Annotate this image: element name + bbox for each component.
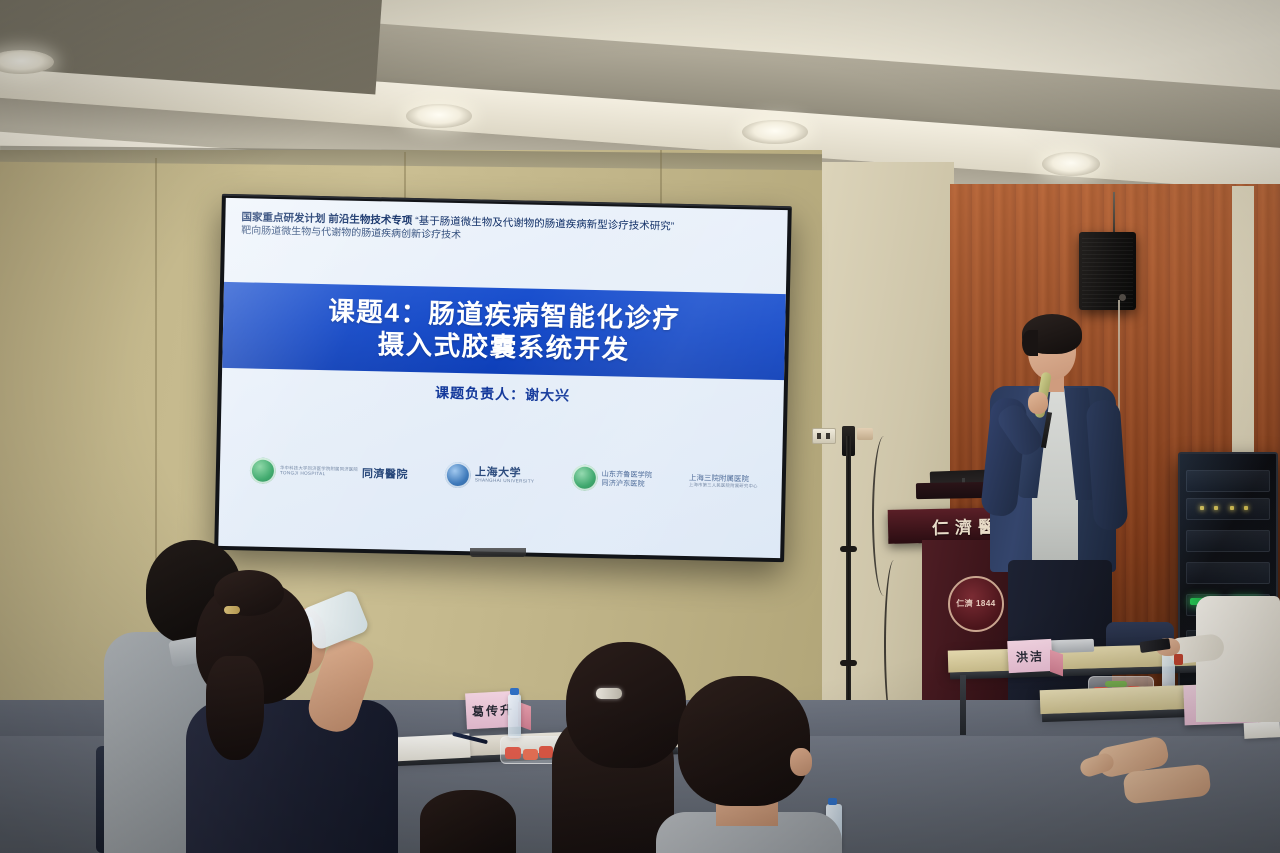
presenter-hand <box>1028 392 1048 414</box>
speaker-logo-dot <box>1119 294 1126 301</box>
presentation-display[interactable]: 国家重点研发计划 前沿生物技术专项 “基于肠道微生物及代谢物的肠道疾病新型诊疗技… <box>214 194 792 562</box>
hair-clip-icon <box>596 688 622 699</box>
fruit-garnish <box>1105 681 1127 687</box>
slide-logo-row: 华中科技大学同济医学院附属同济医院 TONGJI HOSPITAL 同濟醫院 上… <box>249 449 758 504</box>
logo-cn-text: 同濟醫院 <box>362 465 408 482</box>
logo-en-text: TONGJI HOSPITAL <box>280 471 358 478</box>
table-leg <box>960 675 966 735</box>
placard-text: 洪洁 <box>1016 647 1045 665</box>
logo-line2: 同济沪东医院 <box>601 478 652 488</box>
placard-hong-jie: 洪洁 <box>1007 639 1053 673</box>
tv-wall-mount <box>470 548 526 557</box>
outlet-slot <box>817 433 821 439</box>
tripod-clamp[interactable] <box>840 660 857 666</box>
audience-head <box>678 676 810 806</box>
fruit-piece <box>539 746 553 758</box>
slide-title-bar: 课题4：肠道疾病智能化诊疗 摄入式胶囊系统开发 <box>222 282 786 380</box>
presenter-hair-side <box>1022 330 1038 356</box>
shanghai-university-mark-icon <box>445 462 472 489</box>
emblem-text: 仁濟 1844 <box>956 600 996 608</box>
ceiling-downlight <box>406 104 472 128</box>
logo-line2: 上海市第三人民医院附属研究中心 <box>689 483 758 489</box>
slide-program-name: 国家重点研发计划 <box>241 211 325 225</box>
hair-tie-icon <box>224 606 240 614</box>
power-outlet-icon <box>812 428 836 444</box>
logo-en-text: SHANGHAI UNIVERSITY <box>475 479 535 485</box>
wall-panel-seam <box>155 158 157 578</box>
renji-hospital-emblem-icon: 仁濟 1844 <box>948 576 1004 632</box>
water-bottle-icon <box>508 694 521 738</box>
slide-title-line2: 摄入式胶囊系统开发 <box>377 328 630 366</box>
hospital-emblem-icon <box>571 465 598 492</box>
wall-speaker-icon <box>1079 232 1136 310</box>
paper-sheet <box>1244 721 1280 739</box>
placard-side-panel <box>1050 650 1063 677</box>
audience-ear <box>790 748 812 776</box>
slide-program-track: 前沿生物技术专项 <box>328 213 412 227</box>
audience-head <box>566 642 686 768</box>
fruit-piece <box>505 747 521 759</box>
bottle-cap <box>828 798 837 805</box>
ceiling-downlight <box>742 120 808 144</box>
speaker-hanger-wire <box>1113 192 1115 236</box>
audience-ponytail <box>206 656 264 760</box>
logo-shanghai-university: 上海大学 SHANGHAI UNIVERSITY <box>445 462 535 490</box>
tongji-hospital-mark-icon <box>250 458 277 485</box>
slide-presenter-line: 课题负责人：谢大兴 <box>221 378 783 410</box>
ceiling-downlight <box>1042 152 1100 176</box>
outlet-slot <box>826 433 830 439</box>
logo-tongji-hospital: 华中科技大学同济医学院附属同济医院 TONGJI HOSPITAL 同濟醫院 <box>250 458 409 487</box>
wristband-icon <box>1174 654 1183 665</box>
audience-head <box>420 790 516 853</box>
fruit-piece <box>523 749 538 760</box>
logo-shanghai-third-hospital: 上海三院附属医院 上海市第三人民医院附属研究中心 <box>689 473 758 489</box>
bottle-cap <box>510 688 519 695</box>
conference-room-scene: 国家重点研发计划 前沿生物技术专项 “基于肠道微生物及代谢物的肠道疾病新型诊疗技… <box>0 0 1280 853</box>
tripod-clamp[interactable] <box>840 546 857 552</box>
slide-content: 国家重点研发计划 前沿生物技术专项 “基于肠道微生物及代谢物的肠道疾病新型诊疗技… <box>218 198 787 558</box>
slide-header: 国家重点研发计划 前沿生物技术专项 “基于肠道微生物及代谢物的肠道疾病新型诊疗技… <box>241 211 773 249</box>
logo-tongji-shanghai-hospital: 山东齐鲁医学院 同济沪东医院 <box>571 465 652 493</box>
wall-plate <box>857 428 873 440</box>
